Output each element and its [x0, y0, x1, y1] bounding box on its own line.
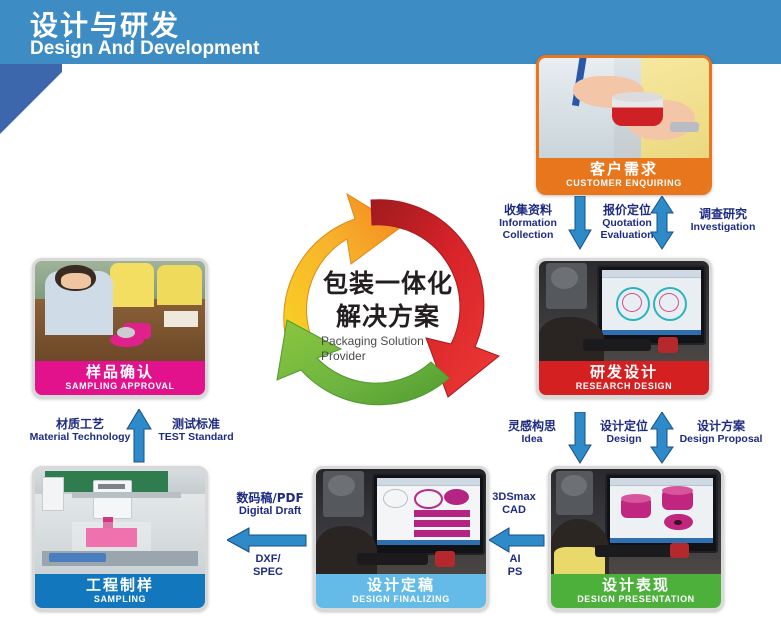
card-photo-customer-enquiring	[539, 58, 709, 158]
label-en-1: Material Technology	[26, 431, 134, 443]
label-test-standard: 测试标准 TEST Standard	[148, 417, 244, 443]
card-design-finalizing[interactable]: 设计定稿 DESIGN FINALIZING	[313, 466, 489, 611]
label-en-1: Design Proposal	[664, 433, 778, 445]
card-photo-research-design	[539, 261, 709, 361]
card-caption-design-finalizing: 设计定稿 DESIGN FINALIZING	[316, 574, 486, 608]
label-cn: 调查研究	[668, 207, 778, 221]
photo-scene-finalizing	[316, 469, 486, 574]
card-design-presentation[interactable]: 设计表现 DESIGN PRESENTATION	[548, 466, 724, 611]
cycle-title-cn-line1: 包装一体化	[243, 264, 533, 300]
photo-scene-research	[539, 261, 709, 361]
label-en-2: Collection	[484, 229, 572, 241]
card-caption-customer-enquiring: 客户需求 CUSTOMER ENQUIRING	[539, 158, 709, 192]
arrow-left-presentation-to-finalizing	[489, 527, 545, 553]
card-caption-cn: 设计表现	[602, 577, 670, 593]
label-3dsmax-cad: 3DSmax CAD	[481, 491, 547, 517]
label-material-technology: 材质工艺 Material Technology	[26, 417, 134, 443]
card-caption-design-presentation: 设计表现 DESIGN PRESENTATION	[551, 574, 721, 608]
photo-scene-sampling	[35, 469, 205, 574]
card-customer-enquiring[interactable]: 客户需求 CUSTOMER ENQUIRING	[536, 55, 712, 195]
photo-scene-customer	[539, 58, 709, 158]
label-cn: 收集资料	[484, 203, 572, 217]
design-screen	[377, 478, 480, 545]
card-photo-sampling	[35, 469, 205, 574]
label-en-1: Digital Draft	[222, 505, 318, 518]
label-en-1: TEST Standard	[148, 431, 244, 443]
label-en-1: 3DSmax	[481, 491, 547, 504]
label-en-1: DXF/	[226, 553, 310, 566]
label-en-1: AI	[489, 553, 541, 566]
label-cn: 数码稿/PDF	[222, 491, 318, 505]
cycle-title-en-line1: Packaging Solution	[321, 334, 471, 349]
label-cn: 设计方案	[664, 419, 778, 433]
cycle-title-en-line2: Provider	[321, 349, 471, 364]
render-screen	[610, 478, 713, 543]
cad-screen	[602, 270, 701, 335]
photo-scene-presentation	[551, 469, 721, 574]
card-caption-en: CUSTOMER ENQUIRING	[566, 177, 682, 189]
card-caption-en: SAMPLING	[94, 593, 146, 605]
label-en-2: PS	[489, 566, 541, 579]
header-triangle-tab	[0, 64, 62, 134]
cycle-title-en: Packaging Solution Provider	[321, 334, 471, 364]
card-caption-research-design: 研发设计 RESEARCH DESIGN	[539, 361, 709, 395]
label-ai-ps: AI PS	[489, 553, 541, 579]
card-caption-en: DESIGN FINALIZING	[352, 593, 450, 605]
photo-scene-sampling-approval	[35, 261, 205, 361]
card-research-design[interactable]: 研发设计 RESEARCH DESIGN	[536, 258, 712, 398]
label-en-1: Idea	[496, 433, 568, 445]
card-caption-cn: 客户需求	[590, 161, 658, 177]
card-caption-en: RESEARCH DESIGN	[576, 380, 673, 392]
card-caption-sampling: 工程制样 SAMPLING	[35, 574, 205, 608]
card-sampling-approval[interactable]: 样品确认 SAMPLING APPROVAL	[32, 258, 208, 398]
label-information-collection: 收集资料 Information Collection	[484, 203, 572, 241]
label-digital-draft: 数码稿/PDF Digital Draft	[222, 491, 318, 518]
cycle-title-cn-line2: 解决方案	[243, 297, 533, 333]
card-caption-cn: 样品确认	[86, 364, 154, 380]
card-caption-sampling-approval: 样品确认 SAMPLING APPROVAL	[35, 361, 205, 395]
label-cn: 测试标准	[148, 417, 244, 431]
label-design-proposal: 设计方案 Design Proposal	[664, 419, 778, 445]
card-caption-en: SAMPLING APPROVAL	[65, 380, 174, 392]
label-en-2: CAD	[481, 504, 547, 517]
arrow-left-finalizing-to-sampling	[227, 527, 307, 553]
card-photo-sampling-approval	[35, 261, 205, 361]
label-en-2: SPEC	[226, 566, 310, 579]
label-investigation: 调查研究 Investigation	[668, 207, 778, 233]
card-caption-cn: 设计定稿	[367, 577, 435, 593]
label-dxf-spec: DXF/ SPEC	[226, 553, 310, 579]
label-en-1: Information	[484, 217, 572, 229]
label-en-1: Investigation	[668, 221, 778, 233]
card-caption-en: DESIGN PRESENTATION	[577, 593, 695, 605]
label-idea: 灵感构思 Idea	[496, 419, 568, 445]
card-caption-cn: 研发设计	[590, 364, 658, 380]
card-sampling[interactable]: 工程制样 SAMPLING	[32, 466, 208, 611]
label-cn: 灵感构思	[496, 419, 568, 433]
page-title-en: Design And Development	[30, 38, 259, 60]
card-photo-design-finalizing	[316, 469, 486, 574]
label-cn: 材质工艺	[26, 417, 134, 431]
card-photo-design-presentation	[551, 469, 721, 574]
card-caption-cn: 工程制样	[86, 577, 154, 593]
